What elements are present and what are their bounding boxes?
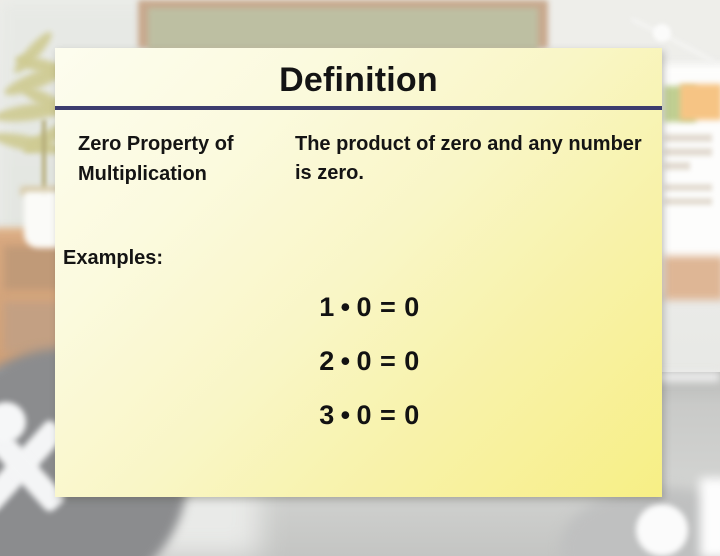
definition-text: The product of zero and any number is ze… bbox=[295, 130, 642, 188]
definition-column: The product of zero and any number is ze… bbox=[287, 130, 642, 189]
poster-text-line bbox=[664, 162, 690, 170]
poster-text-line bbox=[664, 134, 712, 142]
example-equation: 2 • 0 = 0 bbox=[55, 346, 662, 377]
card-body: Zero Property of Multiplication The prod… bbox=[55, 110, 662, 189]
page-title: Definition bbox=[55, 48, 662, 104]
examples-label: Examples: bbox=[55, 247, 662, 270]
poster-text-line bbox=[664, 198, 712, 205]
term-column: Zero Property of Multiplication bbox=[75, 130, 287, 189]
definition-card: Definition Zero Property of Multiplicati… bbox=[55, 48, 662, 497]
term-label: Zero Property of Multiplication bbox=[78, 130, 287, 189]
desk-lamp-head bbox=[653, 24, 671, 42]
slide-canvas: Definition Zero Property of Multiplicati… bbox=[0, 0, 720, 556]
framed-chalkboard-surface bbox=[148, 8, 538, 50]
examples-list: 1 • 0 = 0 2 • 0 = 0 3 • 0 = 0 bbox=[55, 292, 662, 431]
poster-orange-block bbox=[680, 84, 720, 120]
poster-text-line bbox=[664, 184, 712, 191]
poster-stand bbox=[664, 256, 720, 300]
poster-text-line bbox=[664, 148, 712, 156]
example-equation: 3 • 0 = 0 bbox=[55, 400, 662, 431]
stool-white-disc bbox=[636, 504, 688, 556]
right-white-panel bbox=[700, 478, 720, 556]
example-equation: 1 • 0 = 0 bbox=[55, 292, 662, 323]
